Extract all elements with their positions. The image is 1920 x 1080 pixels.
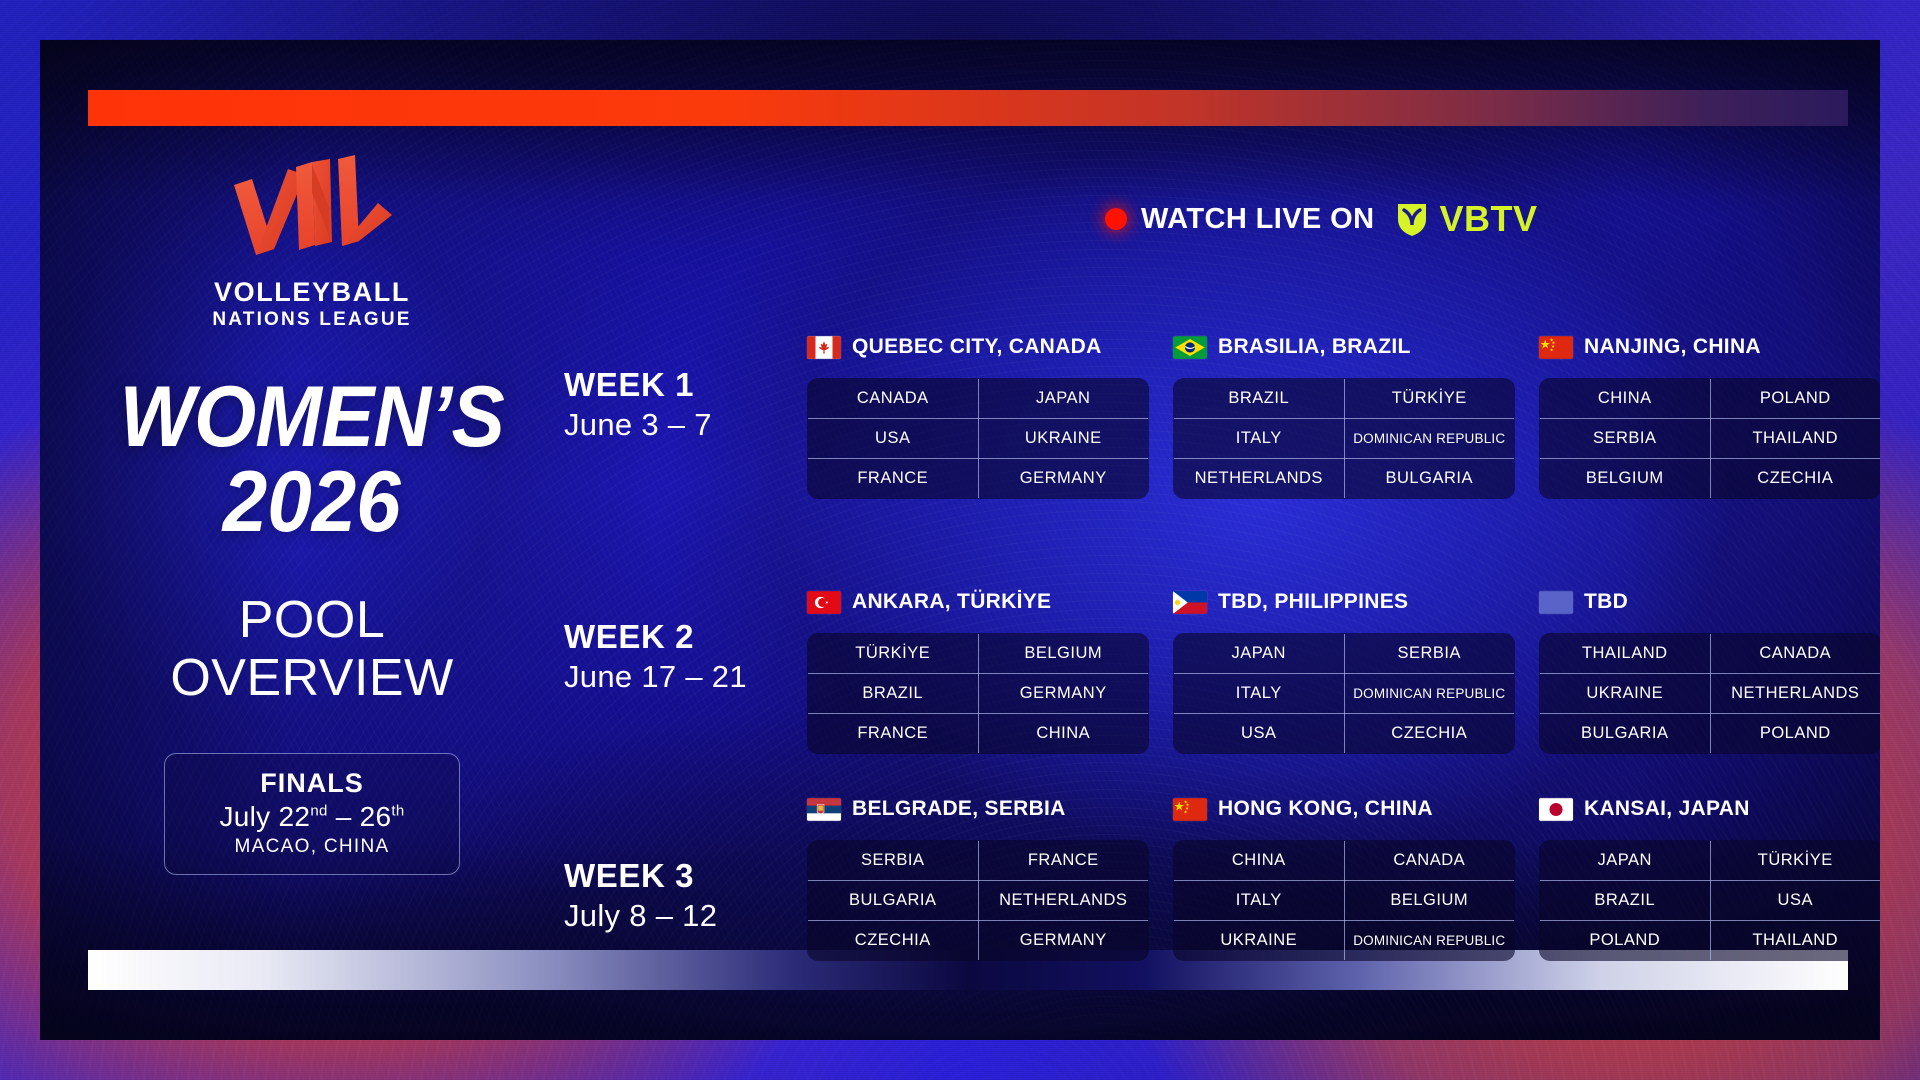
pool-team-table: SERBIAFRANCEBULGARIANETHERLANDSCZECHIAGE…: [807, 840, 1149, 961]
finals-date-mid: – 26: [328, 801, 392, 832]
subtitle-line-1: POOL: [170, 591, 453, 649]
pool-city-label: NANJING, CHINA: [1584, 335, 1761, 359]
team-cell: BRAZIL: [1174, 379, 1345, 419]
team-cell: DOMINICAN REPUBLIC: [1344, 674, 1515, 714]
table-row: FRANCECHINA: [808, 714, 1149, 754]
table-row: BRAZILTÜRKİYE: [1174, 379, 1515, 419]
wordmark-nations-league: NATIONS LEAGUE: [212, 309, 411, 331]
pool-group: QUEBEC CITY, CANADACANADAJAPANUSAUKRAINE…: [807, 330, 1880, 499]
flag-china-icon: [1173, 798, 1207, 821]
table-row: CHINACANADA: [1174, 841, 1515, 881]
team-cell: USA: [1174, 714, 1345, 754]
pool-card: HONG KONG, CHINACHINACANADAITALYBELGIUMU…: [1173, 792, 1515, 961]
team-cell: JAPAN: [978, 379, 1149, 419]
team-cell: CANADA: [1710, 634, 1880, 674]
team-cell: GERMANY: [978, 674, 1149, 714]
table-row: BRAZILUSA: [1540, 881, 1881, 921]
main-poster-panel: VOLLEYBALL NATIONS LEAGUE WOMEN’S 2026 P…: [40, 40, 1880, 1040]
left-column: VOLLEYBALL NATIONS LEAGUE WOMEN’S 2026 P…: [92, 145, 532, 875]
finals-venue: MACAO, CHINA: [175, 836, 449, 858]
team-cell: BULGARIA: [1344, 459, 1515, 499]
pool-header: TBD, PHILIPPINES: [1173, 585, 1515, 619]
pool-team-table: CHINACANADAITALYBELGIUMUKRAINEDOMINICAN …: [1173, 840, 1515, 961]
table-row: NETHERLANDSBULGARIA: [1174, 459, 1515, 499]
team-cell: DOMINICAN REPUBLIC: [1344, 419, 1515, 459]
team-cell: BULGARIA: [808, 881, 979, 921]
pool-team-table: BRAZILTÜRKİYEITALYDOMINICAN REPUBLICNETH…: [1173, 378, 1515, 499]
vbtv-shield-icon: [1396, 201, 1430, 237]
table-row: ITALYDOMINICAN REPUBLIC: [1174, 674, 1515, 714]
pool-card: BRASILIA, BRAZILBRAZILTÜRKİYEITALYDOMINI…: [1173, 330, 1515, 499]
week-label: WEEK 1 June 3 – 7: [564, 366, 794, 443]
team-cell: JAPAN: [1174, 634, 1345, 674]
finals-date-sup-2: th: [391, 803, 404, 820]
team-cell: FRANCE: [808, 714, 979, 754]
pool-header: TBD: [1539, 585, 1880, 619]
week-name: WEEK 2: [564, 618, 794, 656]
team-cell: GERMANY: [978, 459, 1149, 499]
team-cell: CANADA: [808, 379, 979, 419]
pool-header: KANSAI, JAPAN: [1539, 792, 1880, 826]
week-dates: June 3 – 7: [564, 407, 794, 443]
pool-card: NANJING, CHINACHINAPOLANDSERBIATHAILANDB…: [1539, 330, 1880, 499]
team-cell: JAPAN: [1540, 841, 1711, 881]
team-cell: USA: [1710, 881, 1880, 921]
pool-header: HONG KONG, CHINA: [1173, 792, 1515, 826]
page-title: WOMEN’S: [120, 377, 504, 459]
team-cell: CZECHIA: [808, 921, 979, 961]
team-cell: BELGIUM: [978, 634, 1149, 674]
team-cell: BELGIUM: [1344, 881, 1515, 921]
week-dates: June 17 – 21: [564, 659, 794, 695]
table-row: CANADAJAPAN: [808, 379, 1149, 419]
pool-header: ANKARA, TÜRKİYE: [807, 585, 1149, 619]
pool-city-label: ANKARA, TÜRKİYE: [852, 590, 1051, 614]
team-cell: CANADA: [1344, 841, 1515, 881]
week-name: WEEK 1: [564, 366, 794, 404]
flag-turkiye-icon: [807, 591, 841, 614]
team-cell: CHINA: [978, 714, 1149, 754]
page-subtitle: POOL OVERVIEW: [170, 591, 453, 707]
week-name: WEEK 3: [564, 857, 794, 895]
table-row: USACZECHIA: [1174, 714, 1515, 754]
poster-title-block: WOMEN’S 2026: [105, 377, 518, 546]
team-cell: NETHERLANDS: [1174, 459, 1345, 499]
team-cell: ITALY: [1174, 674, 1345, 714]
finals-dates: July 22nd – 26th: [175, 801, 449, 833]
week-dates: July 8 – 12: [564, 898, 794, 934]
finals-date-sup-1: nd: [310, 803, 327, 820]
pool-team-table: TÜRKİYEBELGIUMBRAZILGERMANYFRANCECHINA: [807, 633, 1149, 754]
team-cell: NETHERLANDS: [978, 881, 1149, 921]
team-cell: CZECHIA: [1344, 714, 1515, 754]
team-cell: ITALY: [1174, 419, 1345, 459]
live-dot-icon: [1105, 208, 1127, 230]
table-row: CZECHIAGERMANY: [808, 921, 1149, 961]
pool-card: ANKARA, TÜRKİYETÜRKİYEBELGIUMBRAZILGERMA…: [807, 585, 1149, 754]
team-cell: THAILAND: [1540, 634, 1711, 674]
team-cell: USA: [808, 419, 979, 459]
pool-card: BELGRADE, SERBIASERBIAFRANCEBULGARIANETH…: [807, 792, 1149, 961]
vnl-logo-icon: [212, 145, 412, 273]
pool-city-label: BELGRADE, SERBIA: [852, 797, 1066, 821]
page-title-year: 2026: [120, 459, 504, 547]
team-cell: CZECHIA: [1710, 459, 1880, 499]
subtitle-line-2: OVERVIEW: [170, 649, 453, 707]
pool-group: ANKARA, TÜRKİYETÜRKİYEBELGIUMBRAZILGERMA…: [807, 585, 1880, 754]
table-row: SERBIATHAILAND: [1540, 419, 1881, 459]
team-cell: ITALY: [1174, 881, 1345, 921]
flag-philippines-icon: [1173, 591, 1207, 614]
watch-live-label: WATCH LIVE ON: [1141, 203, 1374, 236]
table-row: JAPANTÜRKİYE: [1540, 841, 1881, 881]
pool-team-table: JAPANTÜRKİYEBRAZILUSAPOLANDTHAILAND: [1539, 840, 1880, 961]
table-row: BULGARIAPOLAND: [1540, 714, 1881, 754]
team-cell: TÜRKİYE: [1344, 379, 1515, 419]
pool-team-table: CANADAJAPANUSAUKRAINEFRANCEGERMANY: [807, 378, 1149, 499]
table-row: THAILANDCANADA: [1540, 634, 1881, 674]
pool-team-table: JAPANSERBIAITALYDOMINICAN REPUBLICUSACZE…: [1173, 633, 1515, 754]
table-row: TÜRKİYEBELGIUM: [808, 634, 1149, 674]
wordmark-volleyball: VOLLEYBALL: [212, 277, 411, 309]
pool-card: TBDTHAILANDCANADAUKRAINENETHERLANDSBULGA…: [1539, 585, 1880, 754]
flag-japan-icon: [1539, 798, 1573, 821]
pool-card: TBD, PHILIPPINESJAPANSERBIAITALYDOMINICA…: [1173, 585, 1515, 754]
week-label: WEEK 3 July 8 – 12: [564, 857, 794, 934]
team-cell: THAILAND: [1710, 921, 1880, 961]
team-cell: POLAND: [1710, 379, 1880, 419]
team-cell: FRANCE: [808, 459, 979, 499]
pool-card: QUEBEC CITY, CANADACANADAJAPANUSAUKRAINE…: [807, 330, 1149, 499]
team-cell: UKRAINE: [1540, 674, 1711, 714]
team-cell: POLAND: [1710, 714, 1880, 754]
watch-live-banner[interactable]: WATCH LIVE ON VBTV: [1105, 198, 1537, 240]
vbtv-logo[interactable]: VBTV: [1396, 198, 1537, 240]
table-row: UKRAINENETHERLANDS: [1540, 674, 1881, 714]
week-label: WEEK 2 June 17 – 21: [564, 618, 794, 695]
pool-city-label: BRASILIA, BRAZIL: [1218, 335, 1411, 359]
team-cell: DOMINICAN REPUBLIC: [1344, 921, 1515, 961]
table-row: UKRAINEDOMINICAN REPUBLIC: [1174, 921, 1515, 961]
flag-tbd-icon: [1539, 591, 1573, 614]
team-cell: TÜRKİYE: [808, 634, 979, 674]
table-row: JAPANSERBIA: [1174, 634, 1515, 674]
table-row: POLANDTHAILAND: [1540, 921, 1881, 961]
table-row: USAUKRAINE: [808, 419, 1149, 459]
pool-city-label: TBD: [1584, 590, 1628, 614]
pool-header: BELGRADE, SERBIA: [807, 792, 1149, 826]
team-cell: BRAZIL: [1540, 881, 1711, 921]
table-row: ITALYBELGIUM: [1174, 881, 1515, 921]
team-cell: SERBIA: [1344, 634, 1515, 674]
pool-city-label: KANSAI, JAPAN: [1584, 797, 1750, 821]
flag-serbia-icon: [807, 798, 841, 821]
pool-header: QUEBEC CITY, CANADA: [807, 330, 1149, 364]
flag-canada-icon: [807, 336, 841, 359]
finals-label: FINALS: [175, 768, 449, 799]
team-cell: BELGIUM: [1540, 459, 1711, 499]
table-row: ITALYDOMINICAN REPUBLIC: [1174, 419, 1515, 459]
table-row: FRANCEGERMANY: [808, 459, 1149, 499]
team-cell: BULGARIA: [1540, 714, 1711, 754]
table-row: BELGIUMCZECHIA: [1540, 459, 1881, 499]
team-cell: CHINA: [1174, 841, 1345, 881]
team-cell: UKRAINE: [978, 419, 1149, 459]
pool-team-table: CHINAPOLANDSERBIATHAILANDBELGIUMCZECHIA: [1539, 378, 1880, 499]
table-row: SERBIAFRANCE: [808, 841, 1149, 881]
pool-header: NANJING, CHINA: [1539, 330, 1880, 364]
table-row: BRAZILGERMANY: [808, 674, 1149, 714]
pool-team-table: THAILANDCANADAUKRAINENETHERLANDSBULGARIA…: [1539, 633, 1880, 754]
team-cell: THAILAND: [1710, 419, 1880, 459]
pool-group: BELGRADE, SERBIASERBIAFRANCEBULGARIANETH…: [807, 792, 1880, 961]
table-row: CHINAPOLAND: [1540, 379, 1881, 419]
pool-city-label: HONG KONG, CHINA: [1218, 797, 1433, 821]
pool-card: KANSAI, JAPANJAPANTÜRKİYEBRAZILUSAPOLAND…: [1539, 792, 1880, 961]
finals-date-prefix: July 22: [219, 801, 310, 832]
pool-city-label: QUEBEC CITY, CANADA: [852, 335, 1102, 359]
finals-info-box: FINALS July 22nd – 26th MACAO, CHINA: [164, 753, 460, 875]
team-cell: POLAND: [1540, 921, 1711, 961]
vnl-wordmark: VOLLEYBALL NATIONS LEAGUE: [212, 277, 411, 331]
team-cell: SERBIA: [808, 841, 979, 881]
team-cell: BRAZIL: [808, 674, 979, 714]
flag-brazil-icon: [1173, 336, 1207, 359]
vbtv-label: VBTV: [1439, 198, 1537, 240]
team-cell: SERBIA: [1540, 419, 1711, 459]
pool-header: BRASILIA, BRAZIL: [1173, 330, 1515, 364]
team-cell: FRANCE: [978, 841, 1149, 881]
team-cell: CHINA: [1540, 379, 1711, 419]
team-cell: UKRAINE: [1174, 921, 1345, 961]
flag-china-icon: [1539, 336, 1573, 359]
team-cell: GERMANY: [978, 921, 1149, 961]
table-row: BULGARIANETHERLANDS: [808, 881, 1149, 921]
team-cell: NETHERLANDS: [1710, 674, 1880, 714]
team-cell: TÜRKİYE: [1710, 841, 1880, 881]
pool-city-label: TBD, PHILIPPINES: [1218, 590, 1408, 614]
